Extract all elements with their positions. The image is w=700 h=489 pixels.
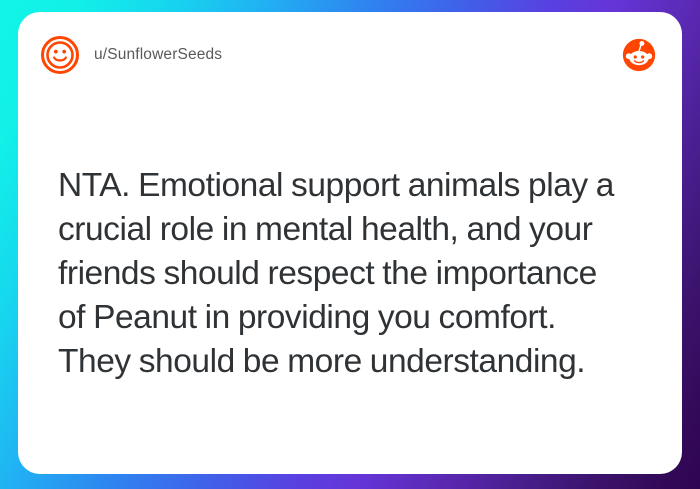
- smiley-face-avatar-icon[interactable]: [40, 35, 80, 75]
- reddit-post-card: u/SunflowerSeeds: [18, 12, 682, 474]
- post-body-line: of Peanut in providing you comfort.: [58, 296, 656, 340]
- post-body-line: NTA. Emotional support animals play a: [58, 164, 656, 208]
- gradient-background: u/SunflowerSeeds: [0, 0, 700, 489]
- post-body-line: crucial role in mental health, and your: [58, 208, 656, 252]
- post-header: u/SunflowerSeeds: [18, 12, 682, 98]
- post-username[interactable]: u/SunflowerSeeds: [94, 46, 222, 64]
- post-body-line: They should be more understanding.: [58, 340, 656, 384]
- reddit-snoo-icon[interactable]: [622, 38, 656, 72]
- post-body-line: friends should respect the importance: [58, 252, 656, 296]
- post-body-text: NTA. Emotional support animals play a cr…: [58, 164, 656, 384]
